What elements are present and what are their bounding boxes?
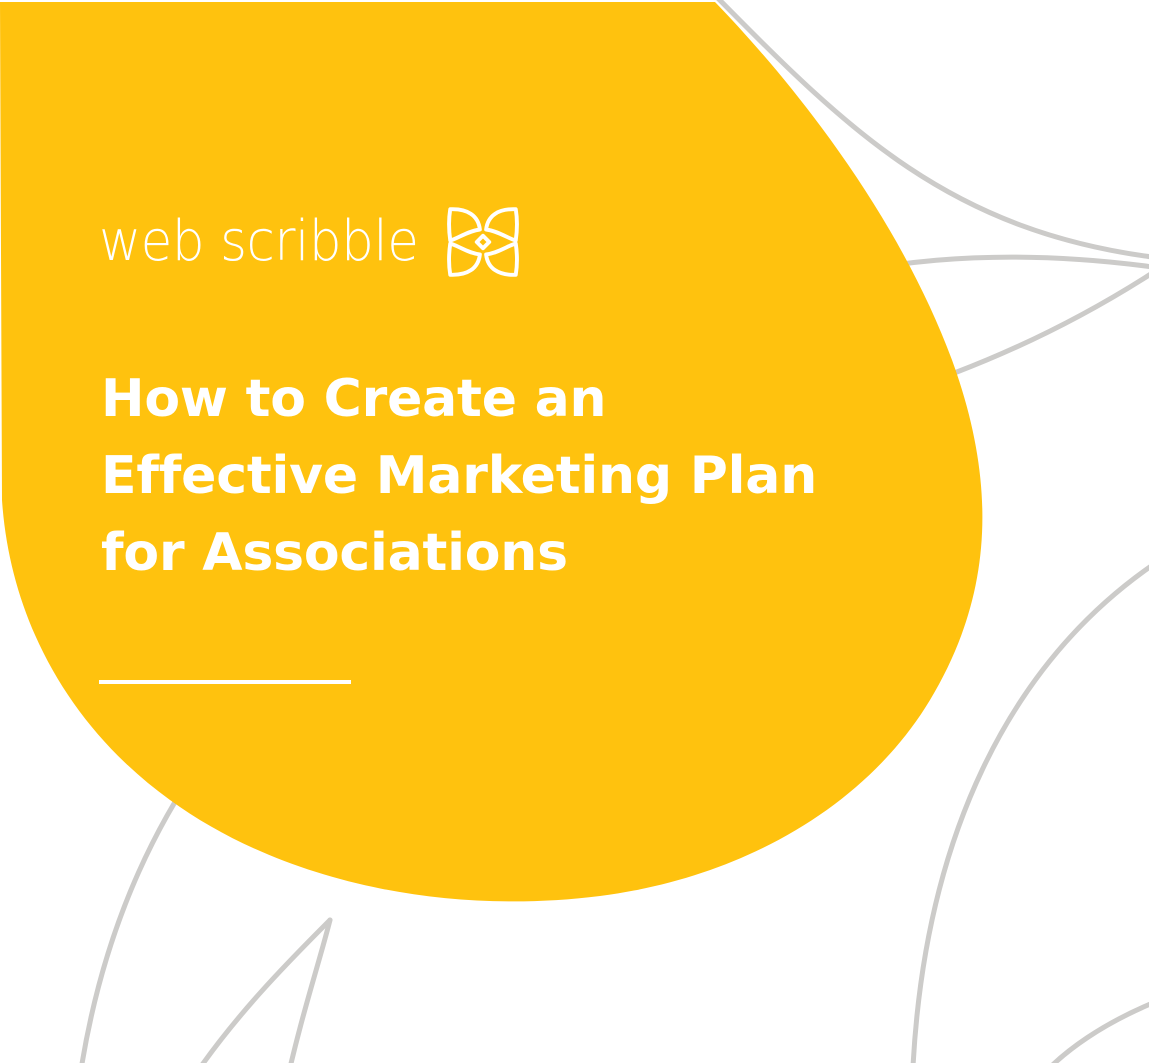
brand-logo: web scribble — [99, 203, 522, 281]
title-line-3: for Associations — [101, 515, 921, 592]
title-line-1: How to Create an — [101, 361, 921, 438]
brand-wordmark: web scribble — [99, 214, 418, 270]
title-underline-rule — [99, 680, 351, 684]
cover-page: web scribble How to Create an — [0, 0, 1149, 1063]
four-petal-pinwheel-icon — [444, 203, 522, 281]
cover-content: web scribble How to Create an — [0, 0, 1149, 1063]
title-line-2: Effective Marketing Plan — [101, 438, 921, 515]
page-title: How to Create an Effective Marketing Pla… — [101, 361, 921, 592]
